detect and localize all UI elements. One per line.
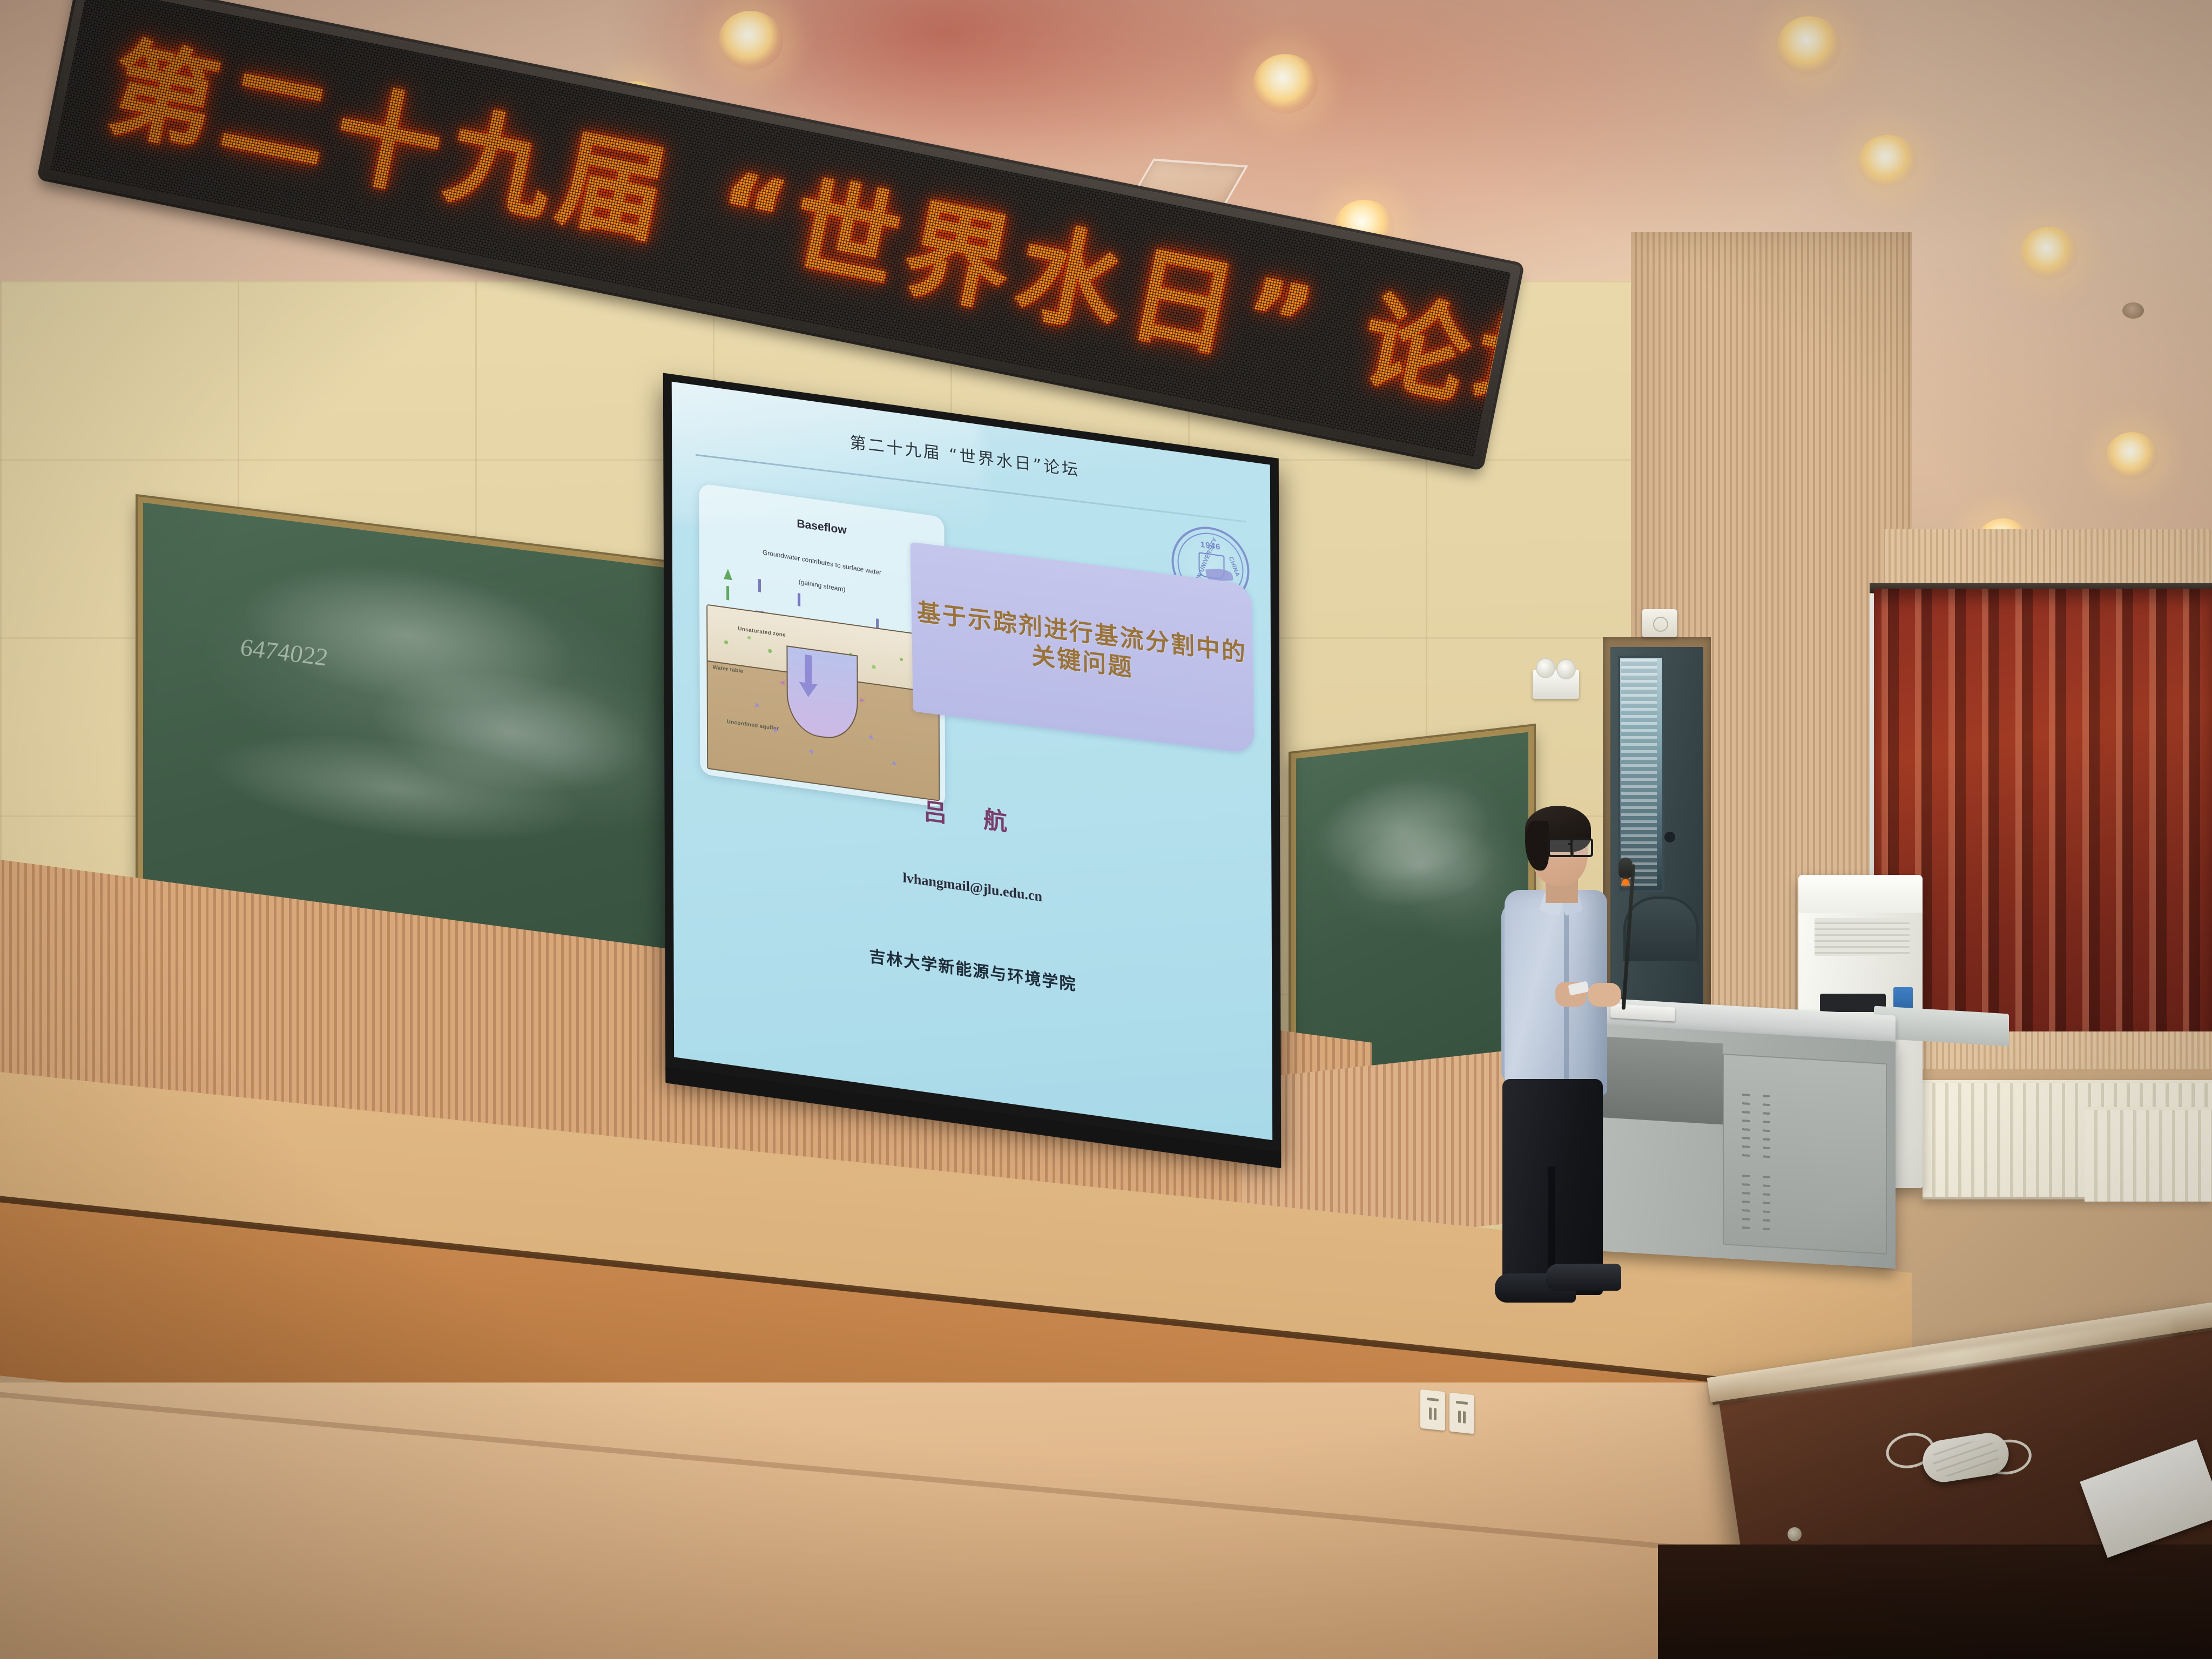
- wall-sensor-icon: [1642, 609, 1677, 637]
- ceiling-downlight-icon: [2020, 227, 2078, 280]
- ceiling-downlight-icon: [2106, 432, 2158, 480]
- glasses-icon: [1548, 838, 1574, 857]
- power-outlet[interactable]: [1420, 1390, 1445, 1431]
- ceiling-downlight-icon: [1858, 135, 1918, 189]
- slide-affiliation: 吉林大学新能源与环境学院: [673, 915, 1272, 1022]
- baseflow-diagram: Baseflow Groundwater contributes to surf…: [699, 483, 945, 808]
- lectern-recess: [1588, 1036, 1723, 1125]
- presenter-right-hand: [1588, 983, 1621, 1007]
- baseflow-subtitle-2: (gaining stream): [699, 561, 945, 611]
- red-curtain: [1874, 589, 2212, 1031]
- door-handle[interactable]: [1664, 832, 1675, 842]
- ceiling-downlight-icon: [1777, 16, 1842, 76]
- slide-canvas: 第二十九届 “世界水日”论坛 1946 JILIN UNIVERSITY CHI…: [672, 382, 1272, 1140]
- glasses-icon-right-lens: [1570, 838, 1593, 857]
- power-outlet[interactable]: [1449, 1393, 1474, 1434]
- lectern-access-panel[interactable]: [1723, 1054, 1887, 1255]
- projection-screen[interactable]: 第二十九届 “世界水日”论坛 1946 JILIN UNIVERSITY CHI…: [663, 373, 1281, 1156]
- stream-channel: [786, 645, 858, 742]
- door-lower-panel: [1623, 896, 1699, 961]
- desk-lower-front: [1658, 1545, 2212, 1659]
- glasses-bridge: [1568, 843, 1573, 845]
- presenter-shoe-right: [1546, 1264, 1621, 1291]
- emergency-light-icon: [1533, 670, 1579, 699]
- microphone-status-led: [1622, 879, 1629, 886]
- air-conditioner-top: [1798, 875, 1923, 913]
- air-conditioner-grille: [1815, 918, 1910, 956]
- lecture-hall-scene: 6474022 第二十九届 “世界水日”论坛 1946 JILIN UNIVER…: [0, 0, 2212, 1659]
- ceiling-downlight-icon: [718, 11, 783, 70]
- microphone-icon: [1618, 858, 1633, 879]
- recharge-arrow-icon: [805, 655, 812, 684]
- radiator-second-section: [2085, 1107, 2212, 1202]
- door-window-blind: [1621, 659, 1657, 886]
- ceiling-downlight-icon: [1253, 54, 1318, 113]
- sprinkler-head-icon: [2122, 302, 2144, 319]
